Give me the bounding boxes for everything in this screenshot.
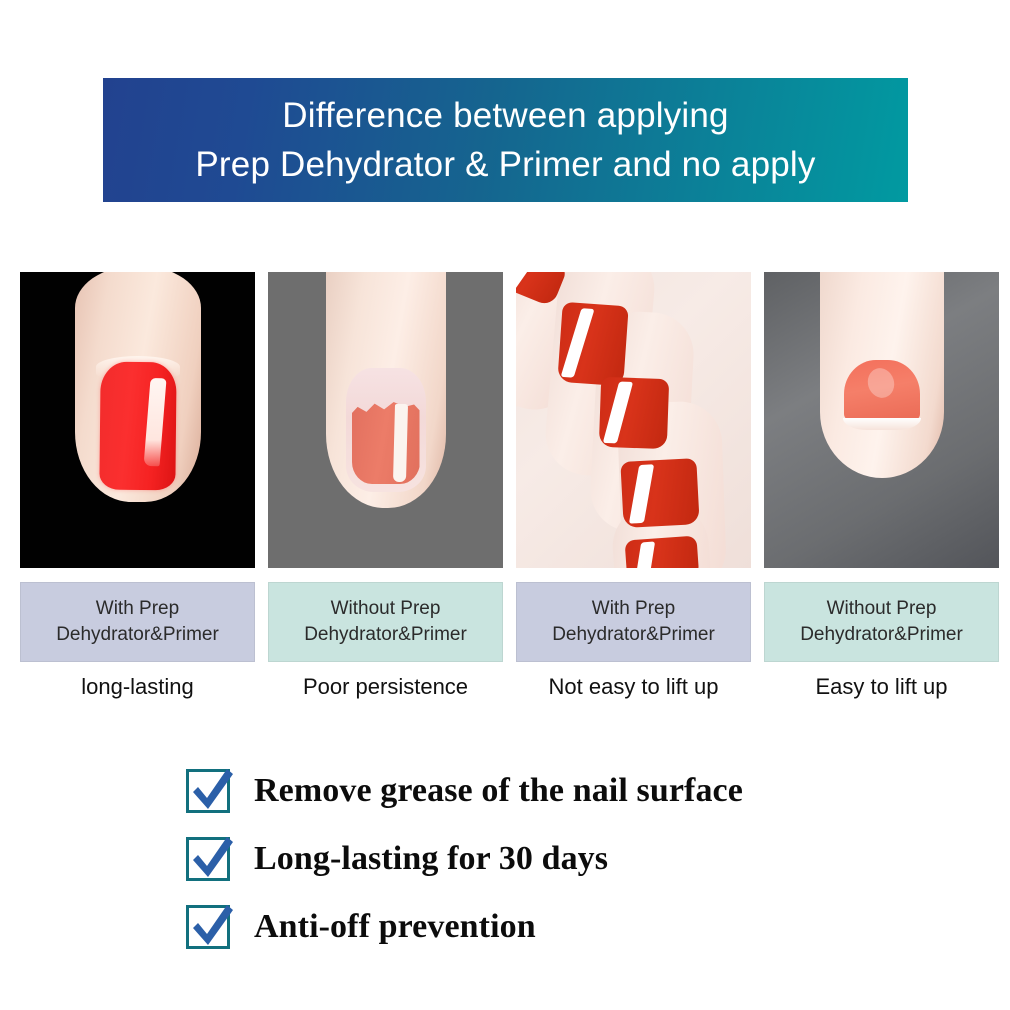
photo-nail-without-prep-gray-bg xyxy=(268,272,503,568)
red-polished-nail xyxy=(99,362,176,491)
checkmark-icon xyxy=(187,765,237,817)
nail-gloss-highlight xyxy=(143,378,166,466)
red-nail xyxy=(625,536,700,568)
lifting-edge xyxy=(843,418,921,430)
caption-line-2: Dehydrator&Primer xyxy=(304,622,467,648)
comparison-photo-row xyxy=(20,272,990,568)
caption-box-3: With Prep Dehydrator&Primer xyxy=(516,582,751,662)
benefit-text-3: Anti-off prevention xyxy=(254,908,536,946)
photo-nail-with-prep-black-bg xyxy=(20,272,255,568)
banner-title-line-1: Difference between applying xyxy=(282,91,728,140)
caption-line-1: Without Prep xyxy=(827,596,937,622)
checkbox-3 xyxy=(186,905,230,949)
caption-box-1: With Prep Dehydrator&Primer xyxy=(20,582,255,662)
result-label-row: long-lasting Poor persistence Not easy t… xyxy=(20,672,990,702)
photo-hand-with-prep-red-nails xyxy=(516,272,751,568)
result-label-3: Not easy to lift up xyxy=(516,672,751,702)
benefit-item-3: Anti-off prevention xyxy=(186,893,946,961)
benefits-list: Remove grease of the nail surface Long-l… xyxy=(186,757,946,961)
caption-box-row: With Prep Dehydrator&Primer Without Prep… xyxy=(20,582,990,662)
photo-nail-without-prep-lifting xyxy=(764,272,999,568)
nail-gloss-highlight xyxy=(392,404,407,482)
header-banner: Difference between applying Prep Dehydra… xyxy=(103,78,908,202)
caption-box-2: Without Prep Dehydrator&Primer xyxy=(268,582,503,662)
benefit-text-1: Remove grease of the nail surface xyxy=(254,772,743,810)
result-label-1: long-lasting xyxy=(20,672,255,702)
caption-line-2: Dehydrator&Primer xyxy=(552,622,715,648)
red-nail xyxy=(620,458,699,528)
checkmark-icon xyxy=(187,901,237,953)
caption-line-1: With Prep xyxy=(592,596,675,622)
checkbox-2 xyxy=(186,837,230,881)
caption-box-4: Without Prep Dehydrator&Primer xyxy=(764,582,999,662)
banner-title-line-2: Prep Dehydrator & Primer and no apply xyxy=(195,140,815,189)
caption-line-1: Without Prep xyxy=(331,596,441,622)
checkbox-1 xyxy=(186,769,230,813)
result-label-2: Poor persistence xyxy=(268,672,503,702)
caption-line-1: With Prep xyxy=(96,596,179,622)
peeling-coral-polish xyxy=(352,402,420,484)
benefit-item-1: Remove grease of the nail surface xyxy=(186,757,946,825)
benefit-text-2: Long-lasting for 30 days xyxy=(254,840,608,878)
caption-line-2: Dehydrator&Primer xyxy=(56,622,219,648)
result-label-4: Easy to lift up xyxy=(764,672,999,702)
red-nail xyxy=(599,377,669,449)
checkmark-icon xyxy=(187,833,237,885)
benefit-item-2: Long-lasting for 30 days xyxy=(186,825,946,893)
red-nail xyxy=(557,302,628,386)
caption-line-2: Dehydrator&Primer xyxy=(800,622,963,648)
